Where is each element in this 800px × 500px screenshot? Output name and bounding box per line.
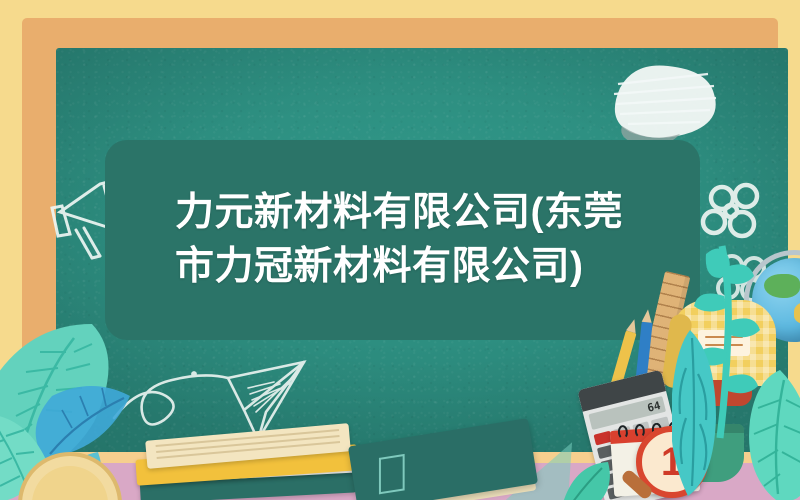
calculator-display-value: 64 xyxy=(646,398,662,414)
magnifier-number: 1 xyxy=(661,442,683,482)
title-line-1: 力元新材料有限公司(东莞 xyxy=(175,186,632,240)
poster-canvas: 力元新材料有限公司(东莞 市力冠新材料有限公司) xyxy=(0,0,800,500)
backpack-name-tag xyxy=(698,330,750,356)
magnifier-icon: 1 xyxy=(636,426,712,500)
backpack xyxy=(672,300,776,418)
page-title: 力元新材料有限公司(东莞 市力冠新材料有限公司) xyxy=(105,140,700,340)
title-line-2: 市力冠新材料有限公司) xyxy=(175,240,632,294)
protractor xyxy=(18,452,122,500)
